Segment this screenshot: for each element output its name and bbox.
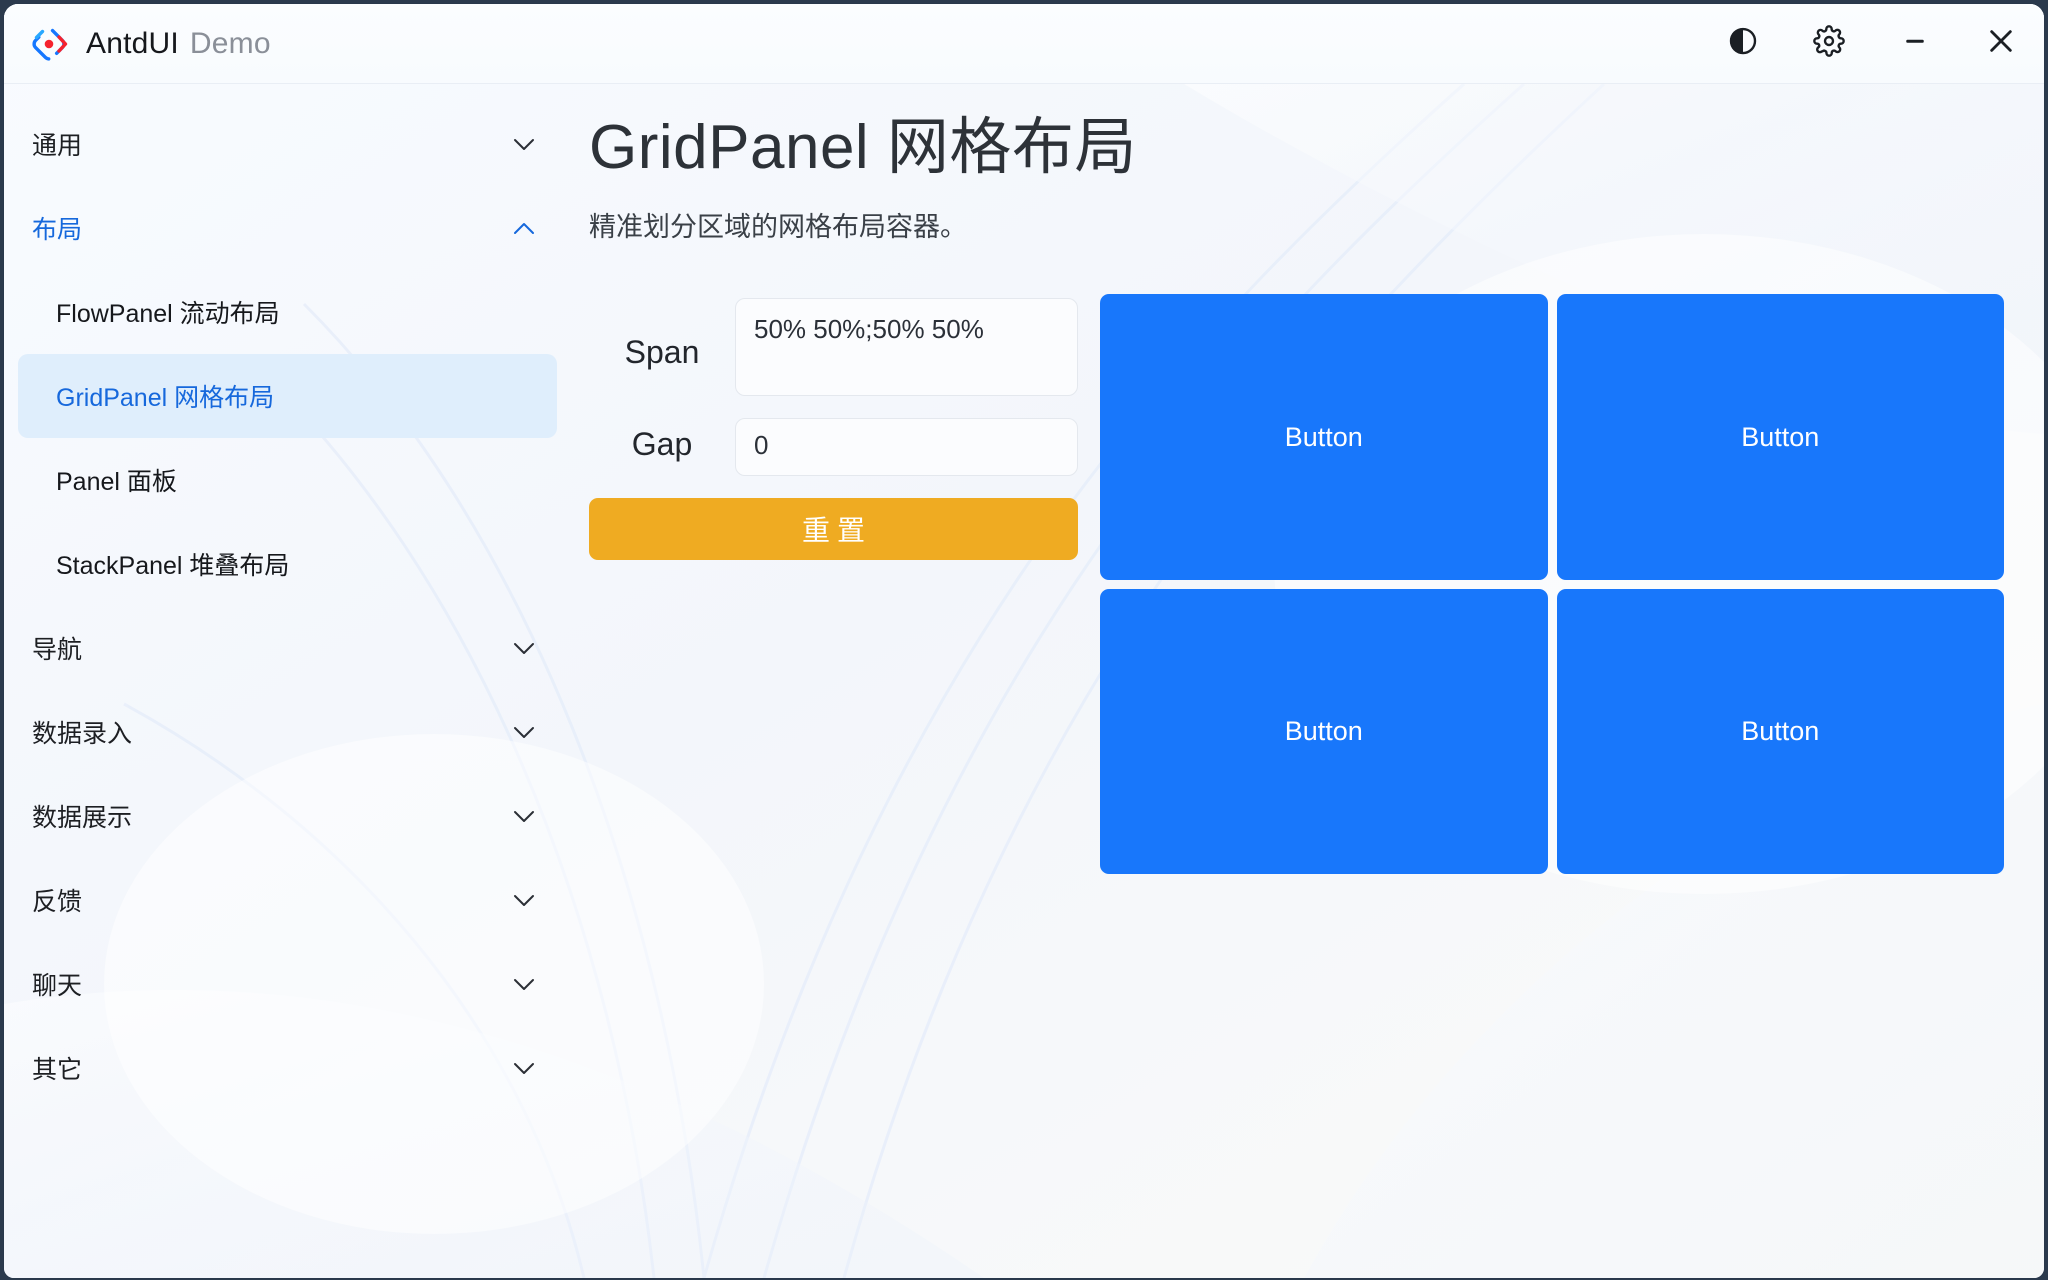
grid-button-1[interactable]: Button bbox=[1100, 294, 1548, 580]
close-button[interactable] bbox=[1958, 4, 2044, 84]
chevron-up-icon bbox=[513, 222, 535, 235]
sidebar-group-label: 导航 bbox=[32, 630, 513, 666]
sidebar-group-label: 其它 bbox=[32, 1050, 513, 1086]
sidebar-item-label: StackPanel 堆叠布局 bbox=[56, 546, 289, 582]
sidebar-group-label: 聊天 bbox=[32, 966, 513, 1002]
contrast-circle-icon bbox=[1728, 26, 1758, 61]
app-title: AntdUI Demo bbox=[86, 27, 271, 61]
sidebar-group-navigation[interactable]: 导航 bbox=[4, 606, 571, 690]
sidebar-item-gridpanel[interactable]: GridPanel 网格布局 bbox=[18, 354, 557, 438]
sidebar-group-label: 反馈 bbox=[32, 882, 513, 918]
grid-button-3[interactable]: Button bbox=[1100, 589, 1548, 875]
sidebar-group-general[interactable]: 通用 bbox=[4, 102, 571, 186]
sidebar-item-label: Panel 面板 bbox=[56, 462, 177, 498]
grid-button-4[interactable]: Button bbox=[1557, 589, 2005, 875]
sidebar-group-feedback[interactable]: 反馈 bbox=[4, 858, 571, 942]
settings-form: Span Gap 重置 bbox=[589, 294, 1078, 560]
gear-icon bbox=[1813, 25, 1845, 62]
theme-toggle-button[interactable] bbox=[1700, 4, 1786, 84]
window-body: 通用 布局 FlowPanel 流动布局 GridPanel 网格布局 Pane… bbox=[4, 84, 2044, 1278]
gap-input[interactable] bbox=[735, 418, 1078, 476]
sidebar: 通用 布局 FlowPanel 流动布局 GridPanel 网格布局 Pane… bbox=[4, 84, 571, 1278]
chevron-down-icon bbox=[513, 810, 535, 823]
chevron-down-icon bbox=[513, 726, 535, 739]
chevron-down-icon bbox=[513, 1062, 535, 1075]
sidebar-group-label: 数据展示 bbox=[32, 798, 513, 834]
reset-button[interactable]: 重置 bbox=[589, 498, 1078, 560]
sidebar-group-chat[interactable]: 聊天 bbox=[4, 942, 571, 1026]
page-title: GridPanel 网格布局 bbox=[589, 112, 2004, 183]
sidebar-group-data-display[interactable]: 数据展示 bbox=[4, 774, 571, 858]
antd-logo-icon bbox=[28, 23, 70, 65]
chevron-down-icon bbox=[513, 894, 535, 907]
gap-field-row: Gap bbox=[589, 418, 1078, 476]
app-title-sub: Demo bbox=[190, 27, 271, 61]
settings-button[interactable] bbox=[1786, 4, 1872, 84]
page-subtitle: 精准划分区域的网格布局容器。 bbox=[589, 205, 2004, 244]
span-label: Span bbox=[589, 298, 735, 370]
sidebar-item-flowpanel[interactable]: FlowPanel 流动布局 bbox=[18, 270, 557, 354]
sidebar-item-stackpanel[interactable]: StackPanel 堆叠布局 bbox=[18, 522, 557, 606]
sidebar-group-label: 通用 bbox=[32, 126, 513, 162]
sidebar-group-data-entry[interactable]: 数据录入 bbox=[4, 690, 571, 774]
sidebar-group-layout[interactable]: 布局 bbox=[4, 186, 571, 270]
grid-panel-preview: Button Button Button Button bbox=[1100, 294, 2004, 874]
app-title-name: AntdUI bbox=[86, 27, 179, 61]
chevron-down-icon bbox=[513, 642, 535, 655]
sidebar-item-label: GridPanel 网格布局 bbox=[56, 378, 274, 414]
sidebar-group-label: 布局 bbox=[32, 210, 513, 246]
titlebar: AntdUI Demo bbox=[4, 4, 2044, 84]
sidebar-item-panel[interactable]: Panel 面板 bbox=[18, 438, 557, 522]
demo-area: Span Gap 重置 Button Button Button Button bbox=[589, 294, 2004, 874]
app-window: AntdUI Demo bbox=[4, 4, 2044, 1278]
sidebar-group-other[interactable]: 其它 bbox=[4, 1026, 571, 1110]
close-icon bbox=[1985, 25, 2017, 62]
gap-label: Gap bbox=[589, 418, 735, 462]
chevron-down-icon bbox=[513, 978, 535, 991]
minimize-button[interactable] bbox=[1872, 4, 1958, 84]
minimize-icon bbox=[1900, 26, 1930, 61]
window-actions bbox=[1700, 4, 2044, 83]
sidebar-group-label: 数据录入 bbox=[32, 714, 513, 750]
span-field-row: Span bbox=[589, 298, 1078, 396]
sidebar-item-label: FlowPanel 流动布局 bbox=[56, 294, 280, 330]
grid-button-2[interactable]: Button bbox=[1557, 294, 2005, 580]
chevron-down-icon bbox=[513, 138, 535, 151]
main-content: GridPanel 网格布局 精准划分区域的网格布局容器。 Span Gap 重… bbox=[571, 84, 2044, 1278]
span-input[interactable] bbox=[735, 298, 1078, 396]
